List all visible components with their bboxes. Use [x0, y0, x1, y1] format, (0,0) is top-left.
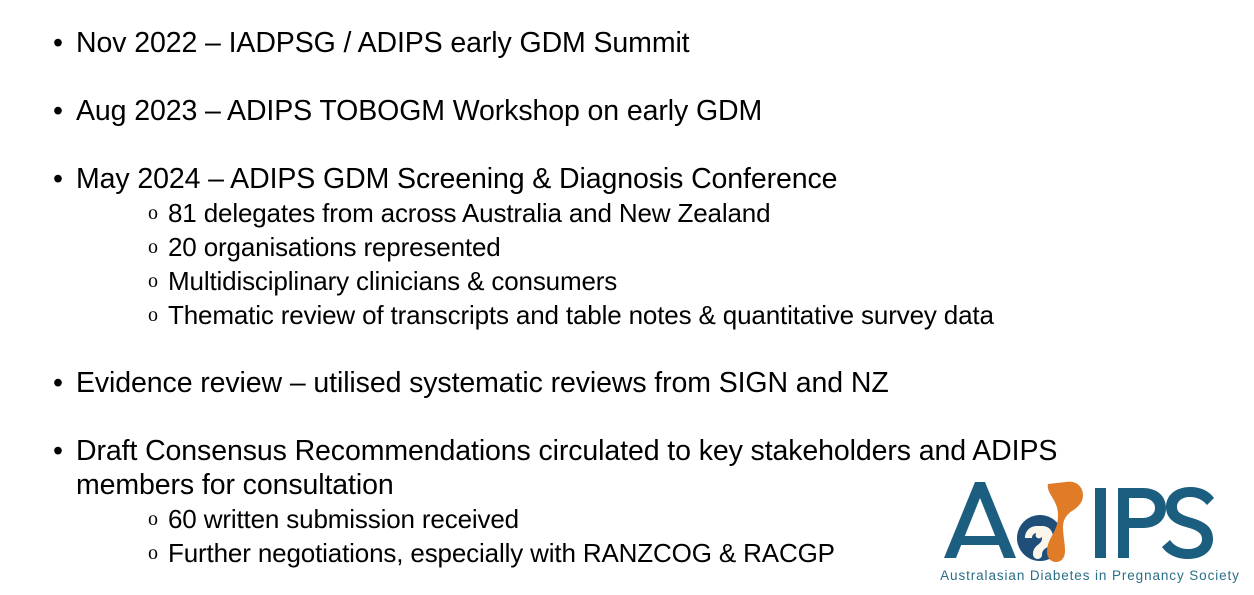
bullet-text: Draft Consensus Recommendations circulat…: [76, 435, 1057, 501]
bullet-marker: •: [53, 366, 63, 400]
bullet-text: Evidence review – utilised systematic re…: [76, 367, 889, 399]
bullet-marker: •: [53, 26, 63, 60]
adips-logo: Australasian Diabetes in Pregnancy Socie…: [938, 474, 1243, 586]
bullet-marker: •: [53, 162, 63, 196]
spacer: [0, 332, 1254, 366]
spacer: [0, 60, 1254, 94]
sub-bullet-marker: o: [148, 230, 158, 264]
sub-bullet-item: o Multidisciplinary clinicians & consume…: [0, 264, 1254, 298]
presentation-slide: • Nov 2022 – IADPSG / ADIPS early GDM Su…: [0, 0, 1254, 595]
sub-bullet-marker: o: [148, 264, 158, 298]
bullet-text: Aug 2023 – ADIPS TOBOGM Workshop on earl…: [76, 95, 762, 127]
sub-bullet-text: 60 written submission received: [168, 504, 519, 534]
sub-bullet-item: o 20 organisations represented: [0, 230, 1254, 264]
bullet-item: • Evidence review – utilised systematic …: [0, 366, 1254, 400]
sub-bullet-item: o 81 delegates from across Australia and…: [0, 196, 1254, 230]
sub-bullet-text: Multidisciplinary clinicians & consumers: [168, 266, 617, 296]
bullet-item: • May 2024 – ADIPS GDM Screening & Diagn…: [0, 162, 1254, 196]
logo-tagline: Australasian Diabetes in Pregnancy Socie…: [940, 568, 1240, 583]
sub-bullet-marker: o: [148, 298, 158, 332]
sub-bullet-text: Further negotiations, especially with RA…: [168, 538, 835, 568]
bullet-text: Nov 2022 – IADPSG / ADIPS early GDM Summ…: [76, 27, 690, 59]
sub-bullet-marker: o: [148, 536, 158, 570]
logo-letter-a-icon: [944, 482, 1016, 558]
sub-bullet-marker: o: [148, 502, 158, 536]
bullet-item: • Aug 2023 – ADIPS TOBOGM Workshop on ea…: [0, 94, 1254, 128]
sub-bullet-item: o Thematic review of transcripts and tab…: [0, 298, 1254, 332]
spacer: [0, 400, 1254, 434]
bullet-marker: •: [53, 94, 63, 128]
sub-bullet-text: 20 organisations represented: [168, 232, 501, 262]
sub-bullet-text: 81 delegates from across Australia and N…: [168, 198, 770, 228]
bullet-item: • Nov 2022 – IADPSG / ADIPS early GDM Su…: [0, 26, 1254, 60]
spacer: [0, 128, 1254, 162]
sub-bullet-text: Thematic review of transcripts and table…: [168, 300, 994, 330]
logo-letters-ips: [1095, 487, 1214, 559]
sub-bullet-marker: o: [148, 196, 158, 230]
bullet-item: • Draft Consensus Recommendations circul…: [0, 434, 1076, 502]
bullet-marker: •: [53, 434, 63, 468]
bullet-text: May 2024 – ADIPS GDM Screening & Diagnos…: [76, 163, 837, 195]
